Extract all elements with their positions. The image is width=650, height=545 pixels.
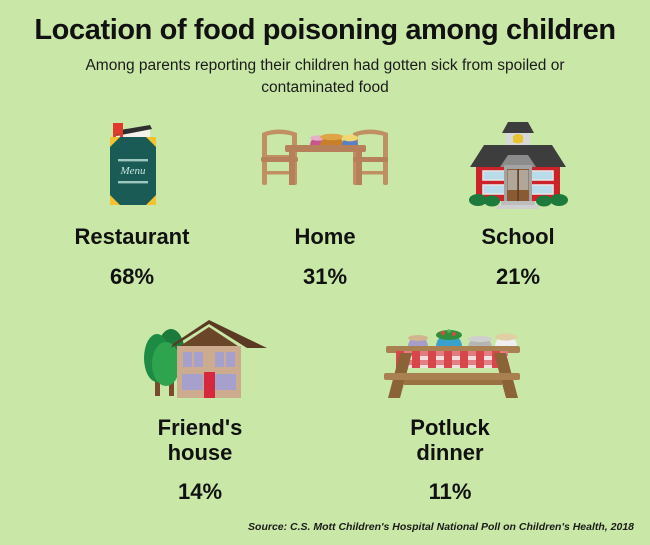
stat-item-friends-house: Friend's house 14% <box>75 304 325 505</box>
schoolhouse-icon <box>460 121 576 213</box>
header: Location of food poisoning among childre… <box>0 0 650 99</box>
stat-row-primary: Menu Restaurant 68% <box>0 113 650 290</box>
stat-value: 68% <box>110 264 154 290</box>
svg-text:Menu: Menu <box>119 165 146 177</box>
stat-item-school: School 21% <box>422 113 615 290</box>
stat-item-restaurant: Menu Restaurant 68% <box>36 113 229 290</box>
stat-label: School <box>481 225 554 250</box>
stat-item-home: Home 31% <box>229 113 422 290</box>
stat-item-potluck-dinner: Potluck dinner 11% <box>325 304 575 505</box>
stat-value: 21% <box>496 264 540 290</box>
page-subtitle: Among parents reporting their children h… <box>0 55 650 99</box>
infographic-root: Location of food poisoning among childre… <box>0 0 650 545</box>
stat-label: Friend's house <box>158 416 243 465</box>
stat-label: Restaurant <box>75 225 190 250</box>
dining-table-icon <box>256 121 394 213</box>
stat-label: Potluck dinner <box>410 416 489 465</box>
icon-container <box>133 304 267 404</box>
menu-book-icon: Menu <box>92 121 172 213</box>
icon-container <box>256 113 394 213</box>
picnic-table-icon <box>374 316 526 404</box>
stat-row-secondary: Friend's house 14% <box>0 304 650 505</box>
source-citation: Source: C.S. Mott Children's Hospital Na… <box>248 521 634 533</box>
page-title: Location of food poisoning among childre… <box>0 14 650 46</box>
stat-value: 31% <box>303 264 347 290</box>
icon-container <box>460 113 576 213</box>
icon-container: Menu <box>92 113 172 213</box>
stat-value: 14% <box>178 479 222 505</box>
stat-label: Home <box>294 225 355 250</box>
icon-container <box>374 304 526 404</box>
house-with-trees-icon <box>133 316 267 404</box>
stat-value: 11% <box>429 479 472 505</box>
